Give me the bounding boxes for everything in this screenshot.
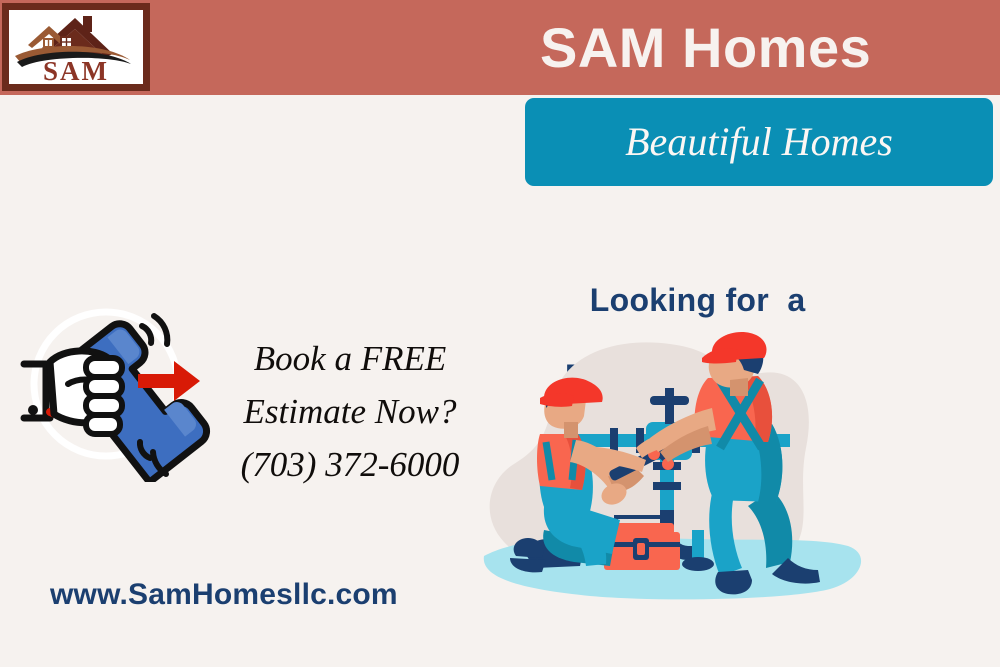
- plumbers-artwork: [480, 330, 880, 610]
- offer-copy: Book a FREE Estimate Now? (703) 372-6000: [205, 332, 495, 491]
- phone-number[interactable]: (703) 372-6000: [205, 438, 495, 491]
- logo-artwork: SAM: [9, 10, 143, 84]
- svg-text:SAM: SAM: [43, 56, 109, 84]
- tagline-box: Beautiful Homes: [525, 98, 993, 186]
- advertisement-canvas: SAM SAM Homes Beautiful Homes Looking fo…: [0, 0, 1000, 667]
- call-icon-artwork: [20, 292, 215, 482]
- sam-homes-logo: SAM: [2, 3, 150, 91]
- hand-holding-phone-icon: [20, 292, 215, 482]
- headline-line-1: Looking for a: [590, 282, 806, 318]
- plumbers-illustration: [480, 330, 880, 610]
- website-url[interactable]: www.SamHomesllc.com: [50, 578, 398, 612]
- offer-line-2: Estimate Now?: [205, 385, 495, 438]
- tagline-text: Beautiful Homes: [525, 98, 993, 186]
- offer-line-1: Book a FREE: [205, 332, 495, 385]
- page-title: SAM Homes: [540, 8, 990, 88]
